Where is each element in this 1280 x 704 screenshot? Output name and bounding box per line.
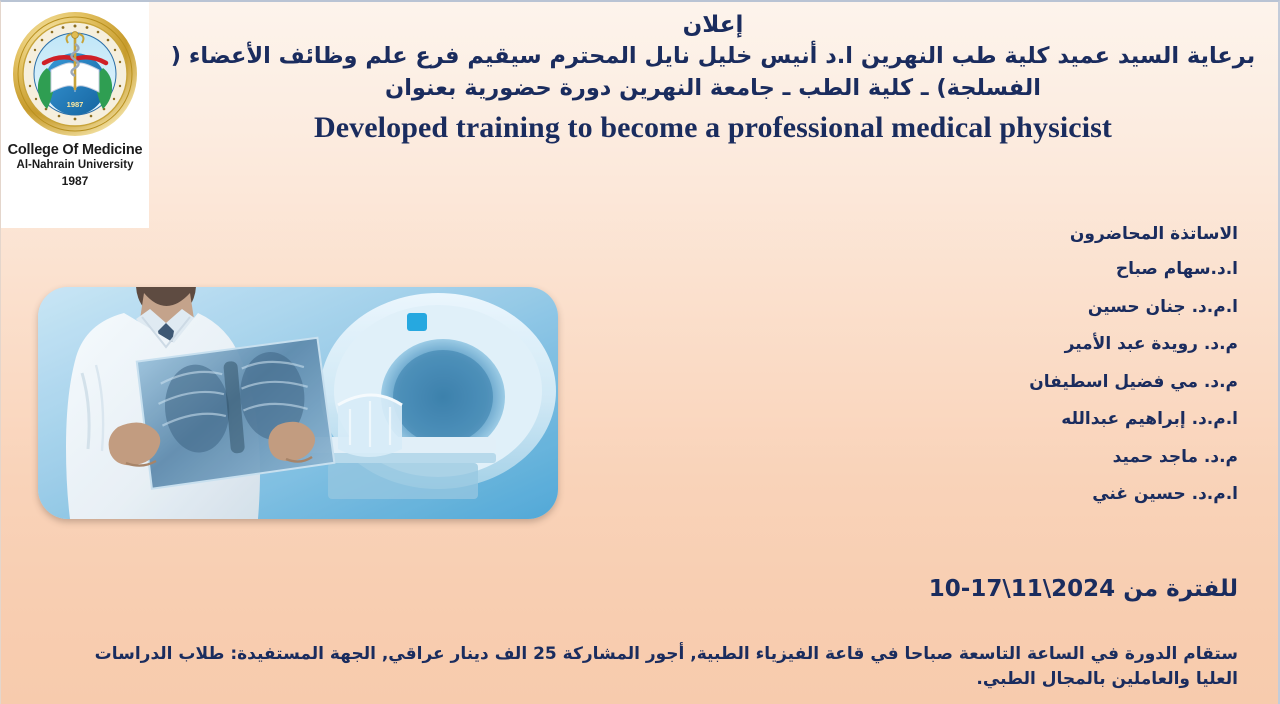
- lecturer-name: م.د. مي فضيل اسطيفان: [778, 373, 1238, 393]
- emblem-year-text: 1987: [67, 100, 84, 109]
- announcement-kicker: إعلان: [151, 10, 1275, 41]
- lecturers-heading: الاساتذة المحاضرون: [778, 224, 1238, 244]
- poster-header: إعلان برعاية السيد عميد كلية طب النهرين …: [151, 10, 1275, 145]
- logo-line-year: 1987: [8, 174, 143, 188]
- lecturer-name: ا.م.د. حسين غني: [778, 485, 1238, 505]
- lecturer-name: ا.د.سهام صباح: [778, 260, 1238, 280]
- logo-line-university: Al-Nahrain University: [8, 159, 143, 173]
- institution-logo-card: 1987 College Of Medicine Al-Nahrain Univ…: [1, 2, 149, 228]
- announcement-poster: 1987 College Of Medicine Al-Nahrain Univ…: [0, 0, 1280, 704]
- lecturers-list: الاساتذة المحاضرون ا.د.سهام صباح ا.م.د. …: [778, 224, 1238, 523]
- college-of-medicine-emblem: 1987: [11, 10, 139, 138]
- course-details-note: ستقام الدورة في الساعة التاسعة صباحا في …: [56, 642, 1238, 691]
- lecturer-name: م.د. رويدة عبد الأمير: [778, 335, 1238, 355]
- announcement-headline: برعاية السيد عميد كلية طب النهرين ا.د أن…: [151, 41, 1275, 105]
- lecturer-name: ا.م.د. جنان حسين: [778, 298, 1238, 318]
- lecturer-name: ا.م.د. إبراهيم عبدالله: [778, 410, 1238, 430]
- logo-caption: College Of Medicine Al-Nahrain Universit…: [8, 142, 143, 188]
- lecturer-name: م.د. ماجد حميد: [778, 448, 1238, 468]
- course-photo: [38, 287, 558, 519]
- doctor-xray-mri-illustration: [38, 287, 558, 519]
- logo-line-college: College Of Medicine: [8, 142, 143, 159]
- course-date-range: للفترة من 2024\11\17-10: [929, 576, 1238, 602]
- course-english-title: Developed training to become a professio…: [151, 111, 1275, 145]
